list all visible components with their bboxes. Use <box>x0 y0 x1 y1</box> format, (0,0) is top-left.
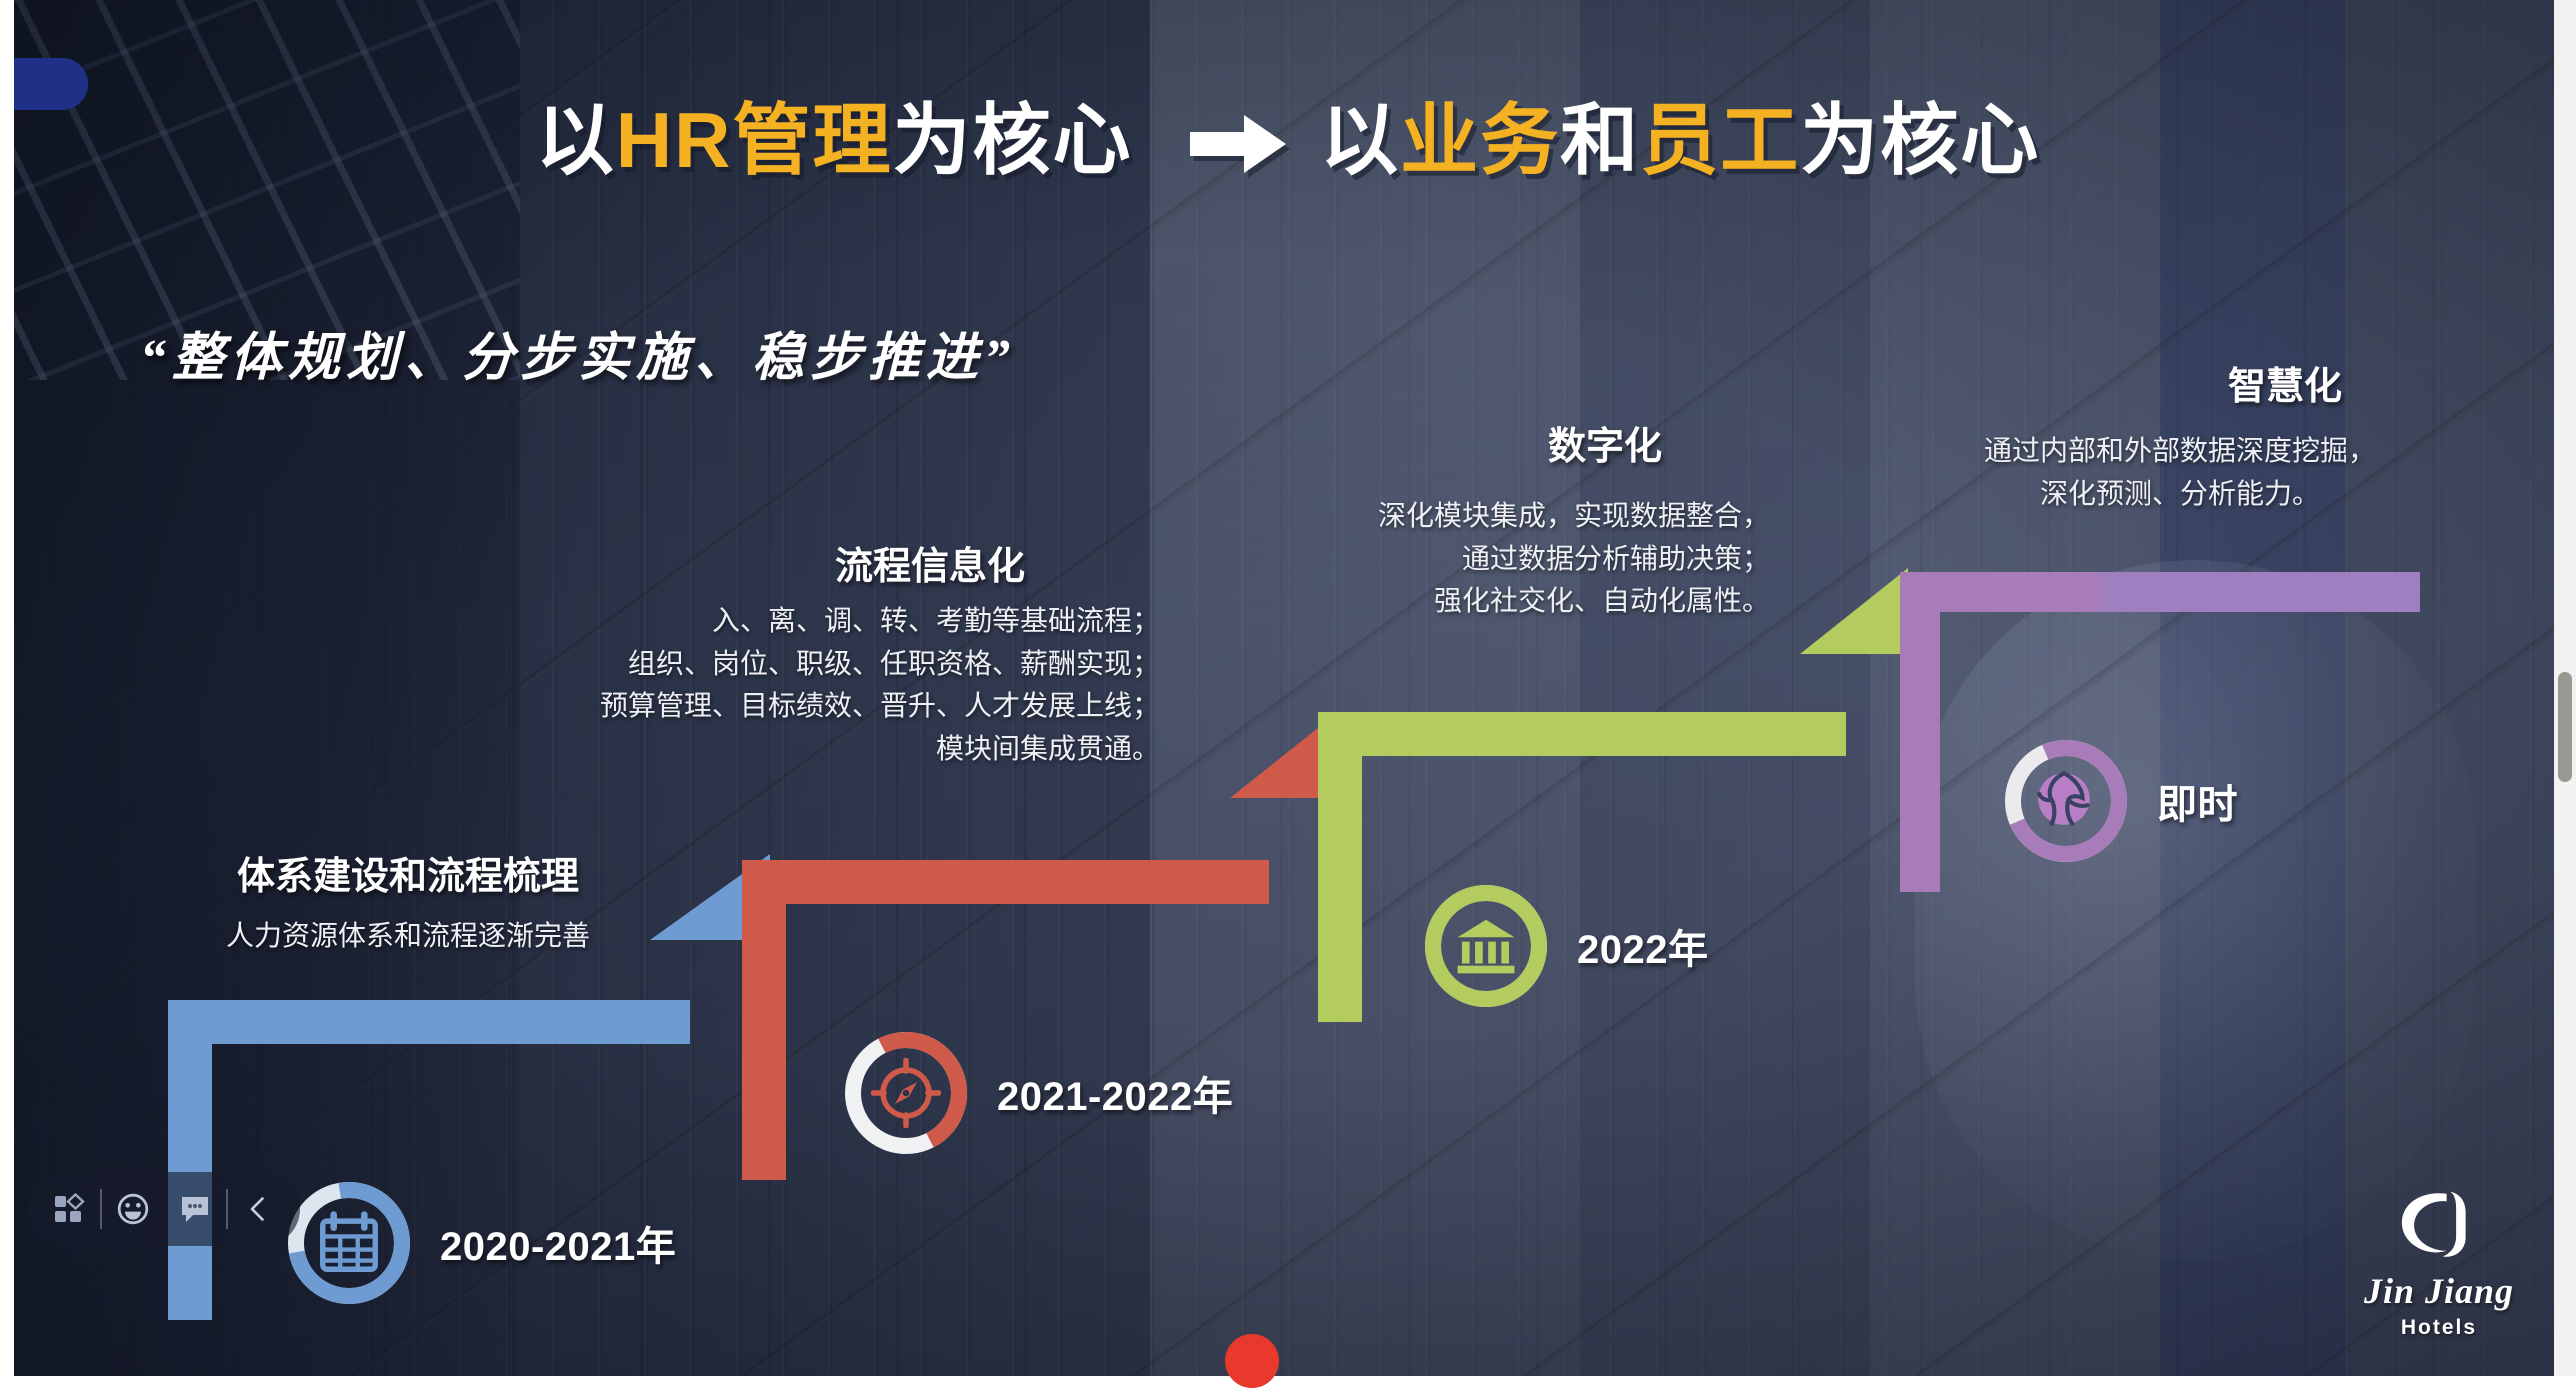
right-arrow-icon <box>1190 101 1286 192</box>
jinjiang-swoosh-logo-icon <box>2391 1188 2487 1266</box>
apps-grid-icon[interactable] <box>38 1178 100 1240</box>
background-vignette <box>0 0 2576 1388</box>
stage-1-title: 体系建设和流程梳理 <box>188 845 628 900</box>
ring-progress-green <box>1425 885 1547 1007</box>
ring-progress-blue <box>288 1182 410 1304</box>
chat-bubble-icon[interactable] <box>164 1178 226 1240</box>
bottom-red-indicator[interactable] <box>1225 1334 1279 1388</box>
timeline-node-2021-2022[interactable]: 2021-2022年 <box>845 1032 1233 1154</box>
compass-icon <box>871 1058 941 1128</box>
title-part-3: 以 <box>1320 96 1400 184</box>
calendar-icon <box>314 1208 384 1278</box>
stage-2-line-2: 组织、岗位、职级、任职资格、薪酬实现； <box>460 643 1160 686</box>
ring-progress-purple <box>2005 740 2127 862</box>
stage-3-lines: 深化模块集成，实现数据整合， 通过数据分析辅助决策； 强化社交化、自动化属性。 <box>1240 495 1770 623</box>
timeline-year-label: 2022年 <box>1577 917 1708 975</box>
brand-subname: Hotels <box>2401 1316 2477 1340</box>
title-highlight-3: 员工 <box>1640 96 1800 184</box>
stage-3-title: 数字化 <box>1440 415 1770 470</box>
brand-logo: Jin Jiang Hotels <box>2364 1188 2514 1340</box>
stage-2-line-1: 入、离、调、转、考勤等基础流程； <box>460 600 1160 643</box>
emoji-smiley-icon[interactable] <box>102 1178 164 1240</box>
stage-1-line-1: 人力资源体系和流程逐渐完善 <box>150 915 666 958</box>
stage-2-line-4: 模块间集成贯通。 <box>460 728 1160 771</box>
collapse-chevron-left-icon[interactable] <box>228 1178 290 1240</box>
bank-icon <box>1451 911 1521 981</box>
title-part-1: 以 <box>536 96 616 184</box>
timeline-year-label: 2020-2021年 <box>440 1214 676 1272</box>
title-part-2: 为核心 <box>892 96 1132 184</box>
stage-2-line-3: 预算管理、目标绩效、晋升、人才发展上线； <box>460 685 1160 728</box>
floating-toolbar[interactable] <box>28 1172 300 1246</box>
left-page-margin <box>0 0 14 1388</box>
stage-3-line-2: 通过数据分析辅助决策； <box>1240 538 1770 581</box>
stage-2-lines: 入、离、调、转、考勤等基础流程； 组织、岗位、职级、任职资格、薪酬实现； 预算管… <box>460 600 1160 770</box>
bottom-page-margin <box>0 1376 2576 1388</box>
slide-canvas: 以HR管理为核心 以业务和员工为核心 “整体规划、分步实施、稳步推进” 体系建设… <box>0 0 2576 1388</box>
brand-name: Jin Jiang <box>2364 1270 2514 1312</box>
title-highlight-1: HR管理 <box>616 96 893 184</box>
stage-4-line-1: 通过内部和外部数据深度挖掘， <box>1910 430 2450 473</box>
timeline-node-realtime[interactable]: 即时 <box>2005 740 2238 862</box>
step-pointer-green <box>1800 568 1908 654</box>
page-title: 以HR管理为核心 以业务和员工为核心 <box>0 78 2576 192</box>
title-part-4: 和 <box>1560 96 1640 184</box>
ring-progress-red <box>845 1032 967 1154</box>
timeline-year-label: 即时 <box>2157 772 2238 830</box>
timeline-year-label: 2021-2022年 <box>997 1064 1233 1122</box>
stage-4-lines: 通过内部和外部数据深度挖掘， 深化预测、分析能力。 <box>1910 430 2450 515</box>
stage-3-line-3: 强化社交化、自动化属性。 <box>1240 580 1770 623</box>
stage-4-title: 智慧化 <box>2120 355 2450 410</box>
stage-4-line-2: 深化预测、分析能力。 <box>1910 473 2450 516</box>
scrollbar-thumb[interactable] <box>2558 672 2572 782</box>
stage-2-title: 流程信息化 <box>700 535 1160 590</box>
title-highlight-2: 业务 <box>1400 96 1560 184</box>
timeline-node-2022[interactable]: 2022年 <box>1425 885 1708 1007</box>
stage-1-lines: 人力资源体系和流程逐渐完善 <box>150 915 666 958</box>
title-part-5: 为核心 <box>1800 96 2040 184</box>
timeline-node-2020-2021[interactable]: 2020-2021年 <box>288 1182 676 1304</box>
globe-icon <box>2031 766 2101 836</box>
stage-3-line-1: 深化模块集成，实现数据整合， <box>1240 495 1770 538</box>
page-subtitle: “整体规划、分步实施、稳步推进” <box>140 315 1016 390</box>
